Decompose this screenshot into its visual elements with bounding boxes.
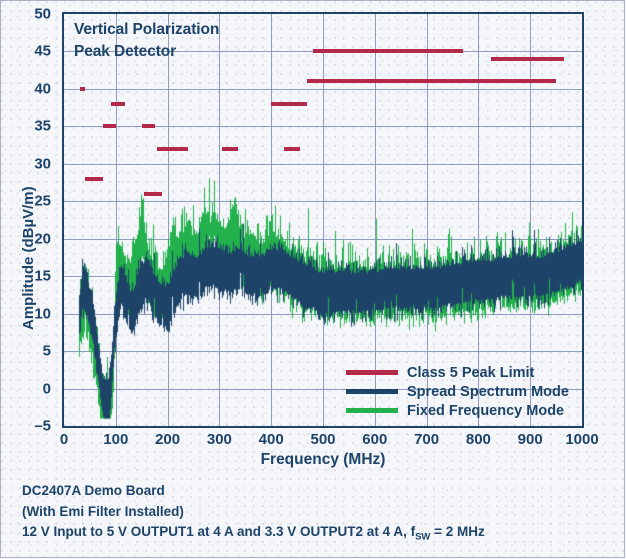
limit-segment <box>313 49 463 53</box>
caption-line-2: (With Emi Filter Installed) <box>22 502 485 523</box>
caption-line-3-sub: SW <box>415 532 430 543</box>
x-tick-label: 500 <box>310 431 335 448</box>
x-axis-label: Frequency (MHz) <box>62 451 584 469</box>
legend-item: Fixed Frequency Mode <box>346 401 569 420</box>
figure-caption: DC2407A Demo Board (With Emi Filter Inst… <box>22 481 485 545</box>
y-tick-label: 50 <box>34 6 51 23</box>
limit-segment <box>144 192 162 196</box>
x-tick-label: 700 <box>414 431 439 448</box>
legend-item: Spread Spectrum Mode <box>346 382 569 401</box>
limit-segment <box>284 147 300 151</box>
legend-swatch <box>346 408 398 413</box>
limit-segment <box>80 87 85 91</box>
y-tick-label: 40 <box>34 80 51 97</box>
legend-item: Class 5 Peak Limit <box>346 363 569 382</box>
caption-line-3: 12 V Input to 5 V OUTPUT1 at 4 A and 3.3… <box>22 522 485 545</box>
legend-label: Fixed Frequency Mode <box>407 403 564 419</box>
x-tick-label: 1000 <box>565 431 598 448</box>
caption-line-1: DC2407A Demo Board <box>22 481 485 502</box>
y-tick-label: 35 <box>34 118 51 135</box>
x-tick-label: 600 <box>362 431 387 448</box>
limit-segment <box>142 124 155 128</box>
limit-segment <box>157 147 188 151</box>
x-tick-label: 800 <box>466 431 491 448</box>
y-tick-label: 30 <box>34 155 51 172</box>
x-tick-label: 100 <box>103 431 128 448</box>
x-tick-label: 400 <box>259 431 284 448</box>
x-tick-label: 300 <box>207 431 232 448</box>
y-tick-label: 45 <box>34 43 51 60</box>
y-axis-label: Amplitude (dBµV/m) <box>20 186 37 330</box>
caption-line-3-b: = 2 MHz <box>430 524 484 539</box>
limit-segment <box>222 147 238 151</box>
limit-segment <box>271 102 307 106</box>
limit-segment <box>491 57 564 61</box>
x-tick-label: 200 <box>155 431 180 448</box>
y-tick-label: 5 <box>43 343 51 360</box>
limit-segment <box>111 102 126 106</box>
limit-segment <box>85 177 103 181</box>
limit-segment <box>103 124 116 128</box>
legend-label: Class 5 Peak Limit <box>407 365 534 381</box>
x-axis-tick-labels: 01002003004005006007008009001000 <box>62 431 584 451</box>
x-tick-label: 900 <box>518 431 543 448</box>
plot-area: Vertical Polarization Peak Detector Clas… <box>62 12 584 428</box>
x-tick-label: 0 <box>60 431 68 448</box>
limit-segment <box>307 79 556 83</box>
legend-label: Spread Spectrum Mode <box>407 384 569 400</box>
caption-line-3-a: 12 V Input to 5 V OUTPUT1 at 4 A and 3.3… <box>22 524 415 539</box>
chart-title: Vertical Polarization Peak Detector <box>74 19 219 63</box>
legend-swatch <box>346 389 398 394</box>
legend-swatch <box>346 370 398 375</box>
y-tick-label: 0 <box>43 380 51 397</box>
y-tick-label: –5 <box>34 418 51 435</box>
legend: Class 5 Peak LimitSpread Spectrum ModeFi… <box>346 363 569 420</box>
